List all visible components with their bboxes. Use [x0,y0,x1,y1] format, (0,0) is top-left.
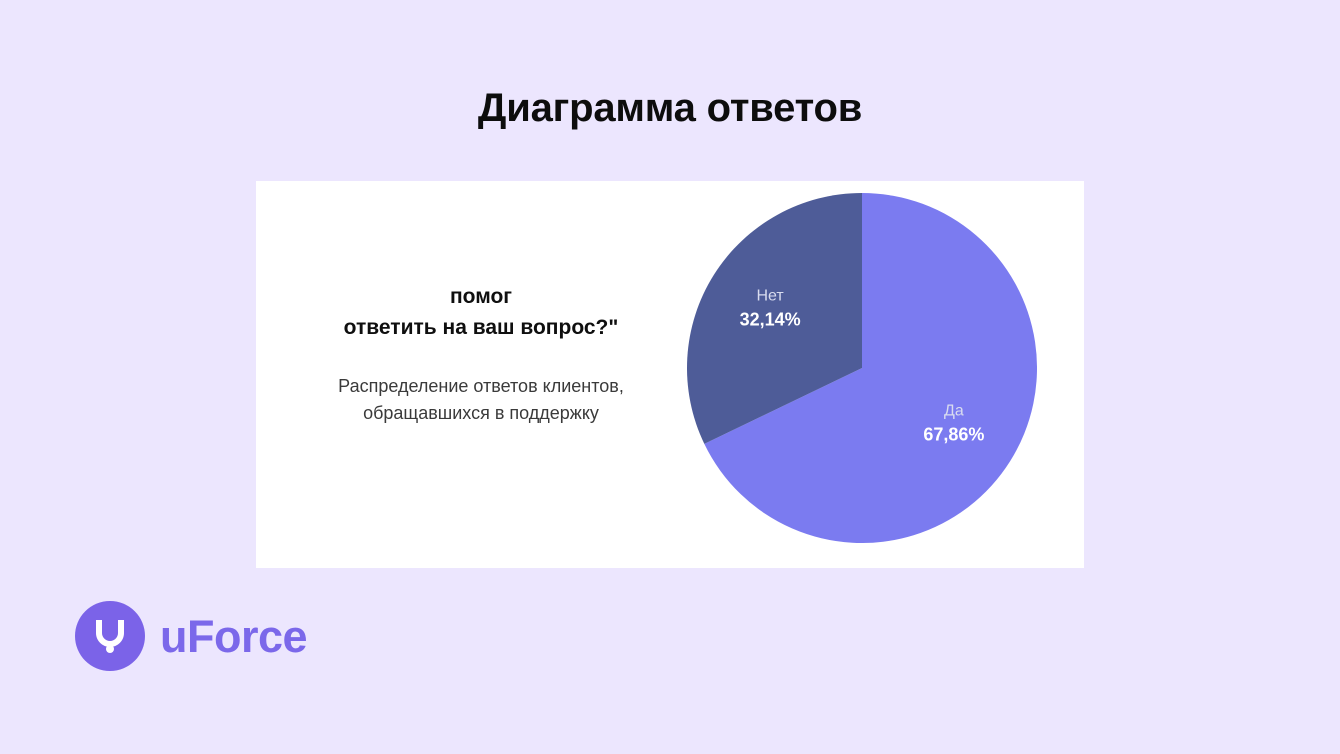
chart-caption-heading: помог ответить на ваш вопрос?" [276,281,686,343]
page-title: Диаграмма ответов [0,86,1340,131]
pie-chart-svg: Да 67,86% Нет 32,14% [687,193,1037,543]
chart-card: помог ответить на ваш вопрос?" Распредел… [256,181,1084,568]
pie-slice-label-da-name: Да [944,403,964,420]
brand-logo: uForce [75,601,307,671]
chart-caption-subtitle-line-1: Распределение ответов клиентов, [276,373,686,400]
chart-caption-subtitle-line-2: обращавшихся в поддержку [276,400,686,427]
chart-caption-heading-line-1: помог [276,281,686,312]
uforce-mark-circle [75,601,145,671]
uforce-u-dot-icon [93,616,127,656]
pie-slice-label-da-value: 67,86% [923,425,984,445]
chart-caption-block: помог ответить на ваш вопрос?" Распредел… [276,281,686,427]
pie-slice-label-net-name: Нет [756,287,784,304]
pie-slice-label-net-value: 32,14% [740,309,801,329]
slide-canvas: Диаграмма ответов помог ответить на ваш … [0,0,1340,754]
chart-caption-heading-line-2: ответить на ваш вопрос?" [276,312,686,343]
pie-chart: Да 67,86% Нет 32,14% [687,193,1037,543]
chart-caption-subtitle: Распределение ответов клиентов, обращавш… [276,343,686,427]
brand-wordmark: uForce [160,614,307,659]
